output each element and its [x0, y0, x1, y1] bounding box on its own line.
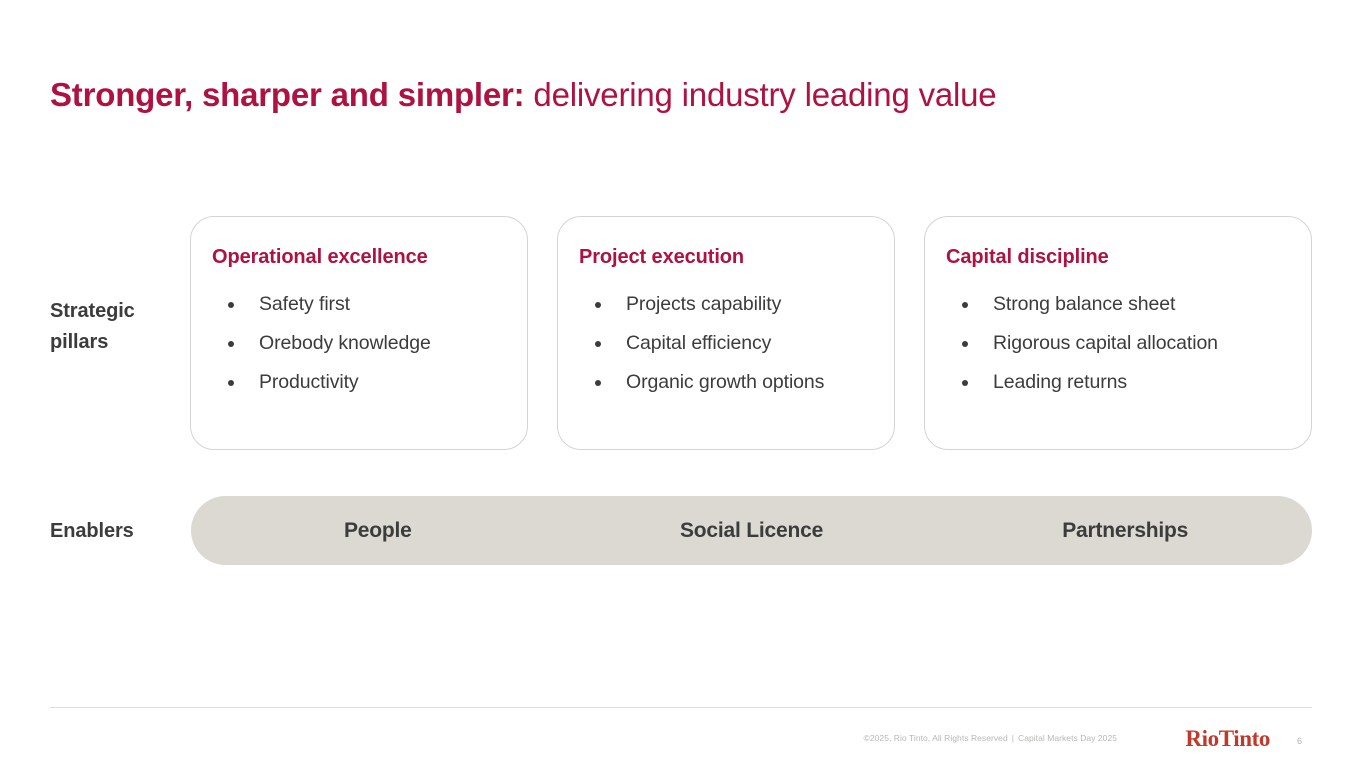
footer-divider — [50, 707, 1312, 708]
pillar-card-capital-discipline[interactable]: Capital discipline Strong balance sheet … — [924, 216, 1312, 450]
list-item: Orebody knowledge — [211, 324, 505, 363]
pillar-bullet-list: Safety first Orebody knowledge Productiv… — [211, 285, 505, 402]
bullet-dot-icon — [962, 302, 968, 308]
footer-separator: | — [1008, 733, 1018, 743]
enabler-people[interactable]: People — [191, 519, 565, 543]
list-item-label: Orebody knowledge — [259, 332, 431, 354]
enabler-social-licence[interactable]: Social Licence — [565, 519, 939, 543]
list-item: Rigorous capital allocation — [945, 324, 1289, 363]
list-item-label: Rigorous capital allocation — [993, 332, 1218, 354]
bullet-dot-icon — [595, 302, 601, 308]
pillar-card-heading: Operational excellence — [211, 245, 505, 269]
rio-tinto-logo: RioTinto — [1185, 726, 1270, 752]
strategic-pillars-group: Operational excellence Safety first Oreb… — [190, 216, 1312, 450]
slide-canvas: Stronger, sharper and simpler: deliverin… — [0, 0, 1365, 768]
list-item: Capital efficiency — [578, 324, 872, 363]
row-label-strategic-pillars: Strategic pillars — [50, 296, 190, 358]
bullet-dot-icon — [962, 341, 968, 347]
row-label-enablers: Enablers — [50, 516, 190, 547]
footer: ©2025, Rio Tinto, All Rights Reserved|Ca… — [50, 730, 1312, 752]
list-item-label: Strong balance sheet — [993, 293, 1175, 315]
list-item: Strong balance sheet — [945, 285, 1289, 324]
list-item-label: Productivity — [259, 371, 359, 393]
pillar-card-heading: Project execution — [578, 245, 872, 269]
bullet-dot-icon — [595, 341, 601, 347]
footer-copyright-text: ©2025, Rio Tinto, All Rights Reserved — [864, 733, 1008, 743]
list-item: Projects capability — [578, 285, 872, 324]
list-item: Leading returns — [945, 363, 1289, 402]
pillar-card-operational-excellence[interactable]: Operational excellence Safety first Oreb… — [190, 216, 528, 450]
list-item-label: Leading returns — [993, 371, 1127, 393]
list-item: Safety first — [211, 285, 505, 324]
enabler-partnerships[interactable]: Partnerships — [938, 519, 1312, 543]
page-title-light: delivering industry leading value — [524, 76, 996, 113]
bullet-dot-icon — [228, 380, 234, 386]
footer-event-text: Capital Markets Day 2025 — [1018, 733, 1117, 743]
footer-copyright: ©2025, Rio Tinto, All Rights Reserved|Ca… — [864, 733, 1117, 743]
page-number: 6 — [1297, 736, 1302, 746]
list-item: Productivity — [211, 363, 505, 402]
list-item-label: Capital efficiency — [626, 332, 771, 354]
bullet-dot-icon — [228, 341, 234, 347]
list-item-label: Organic growth options — [626, 371, 824, 393]
bullet-dot-icon — [595, 380, 601, 386]
pillar-card-heading: Capital discipline — [945, 245, 1289, 269]
list-item-label: Safety first — [259, 293, 350, 315]
bullet-dot-icon — [962, 380, 968, 386]
bullet-dot-icon — [228, 302, 234, 308]
pillar-bullet-list: Strong balance sheet Rigorous capital al… — [945, 285, 1289, 402]
pillar-card-project-execution[interactable]: Project execution Projects capability Ca… — [557, 216, 895, 450]
enablers-bar: People Social Licence Partnerships — [191, 496, 1312, 565]
page-title-bold: Stronger, sharper and simpler: — [50, 76, 524, 113]
page-title: Stronger, sharper and simpler: deliverin… — [50, 74, 996, 116]
list-item-label: Projects capability — [626, 293, 781, 315]
list-item: Organic growth options — [578, 363, 872, 402]
pillar-bullet-list: Projects capability Capital efficiency O… — [578, 285, 872, 402]
